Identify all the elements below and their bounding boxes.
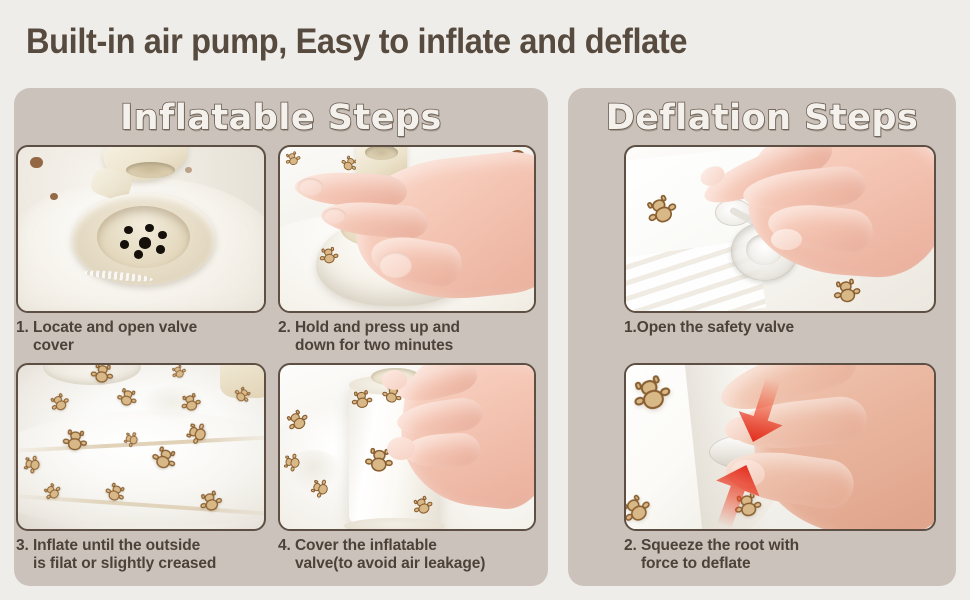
step-text-line2: is filat or slightly creased <box>16 555 266 573</box>
valve-cap-mouth-shape <box>126 162 175 178</box>
air-hole <box>145 224 154 232</box>
teddy-bear-print <box>49 393 71 415</box>
step-photo-deflate-2 <box>624 363 936 531</box>
step-cell-inflate-3: 3. Inflate until the outside is filat or… <box>16 363 266 574</box>
air-hole <box>139 237 152 248</box>
step-photo-inflate-4 <box>278 363 536 531</box>
step-number: 2. <box>624 537 637 554</box>
step-text-line1: Locate and open valve <box>33 319 197 336</box>
teddy-bear-print <box>319 247 338 265</box>
fingernail-shape <box>387 437 415 460</box>
step-photo-inflate-2 <box>278 145 536 313</box>
step-text-line2: cover <box>16 337 266 355</box>
step-cell-inflate-2: 2. Hold and press up and down for two mi… <box>278 145 536 356</box>
step-caption-inflate-2: 2. Hold and press up and down for two mi… <box>278 319 536 356</box>
fingernail-shape <box>771 229 802 250</box>
step-number: 1. <box>624 319 637 336</box>
panel-heading-deflation: Deflation Steps <box>568 98 956 138</box>
step-photo-inflate-1 <box>16 145 266 313</box>
step-caption-deflate-2: 2. Squeeze the root with force to deflat… <box>624 537 936 574</box>
step-caption-inflate-1: 1. Locate and open valve cover <box>16 319 266 356</box>
step-text-line1: Cover the inflatable <box>295 537 437 554</box>
step-caption-deflate-1: 1.Open the safety valve <box>624 319 936 337</box>
infographic-page: Built-in air pump, Easy to inflate and d… <box>0 0 970 600</box>
step-number: 3. <box>16 537 29 554</box>
brown-dot <box>185 167 191 173</box>
step-caption-inflate-4: 4. Cover the inflatable valve(to avoid a… <box>278 537 536 574</box>
brown-dot <box>30 157 42 168</box>
step-cell-inflate-1: 1. Locate and open valve cover <box>16 145 266 356</box>
panel-heading-inflatable: Inflatable Steps <box>14 98 548 138</box>
step-text-line2: force to deflate <box>624 555 936 573</box>
teddy-bear-print <box>91 363 113 384</box>
teddy-bear-print <box>116 389 137 409</box>
step-text-line1: Inflate until the outside <box>33 537 200 554</box>
step-cell-inflate-4: 4. Cover the inflatable valve(to avoid a… <box>278 363 536 574</box>
air-hole <box>156 245 165 253</box>
step-cell-deflate-1: 1.Open the safety valve <box>624 145 936 337</box>
page-title: Built-in air pump, Easy to inflate and d… <box>26 22 882 62</box>
step-photo-inflate-3 <box>16 363 266 531</box>
teddy-bear-print <box>63 430 87 452</box>
teddy-bear-print <box>170 364 187 380</box>
teddy-bear-print <box>285 151 302 168</box>
step-caption-inflate-3: 3. Inflate until the outside is filat or… <box>16 537 266 574</box>
fingernail-shape <box>382 370 407 390</box>
valve-column-base <box>344 518 446 531</box>
air-hole <box>158 231 167 239</box>
fingernail-shape <box>379 252 412 278</box>
step-text-line2: down for two minutes <box>278 337 536 355</box>
teddy-bear-print <box>285 454 302 472</box>
air-hole <box>120 240 129 248</box>
brown-dot <box>50 193 58 200</box>
step-text-line1: Hold and press up and <box>295 319 460 336</box>
step-number: 1. <box>16 319 29 336</box>
step-cell-deflate-2: 2. Squeeze the root with force to deflat… <box>624 363 936 574</box>
step-text-line2: valve(to avoid air leakage) <box>278 555 536 573</box>
step-number: 2. <box>278 319 291 336</box>
step-text-line1: Open the safety valve <box>637 319 794 336</box>
teddy-bear-print <box>351 391 372 411</box>
teddy-bear-print <box>832 279 860 306</box>
step-number: 4. <box>278 537 291 554</box>
fingernail-shape <box>323 208 346 224</box>
step-photo-deflate-1 <box>624 145 936 313</box>
step-text-line1: Squeeze the root with <box>641 537 799 554</box>
air-hole <box>134 250 143 259</box>
